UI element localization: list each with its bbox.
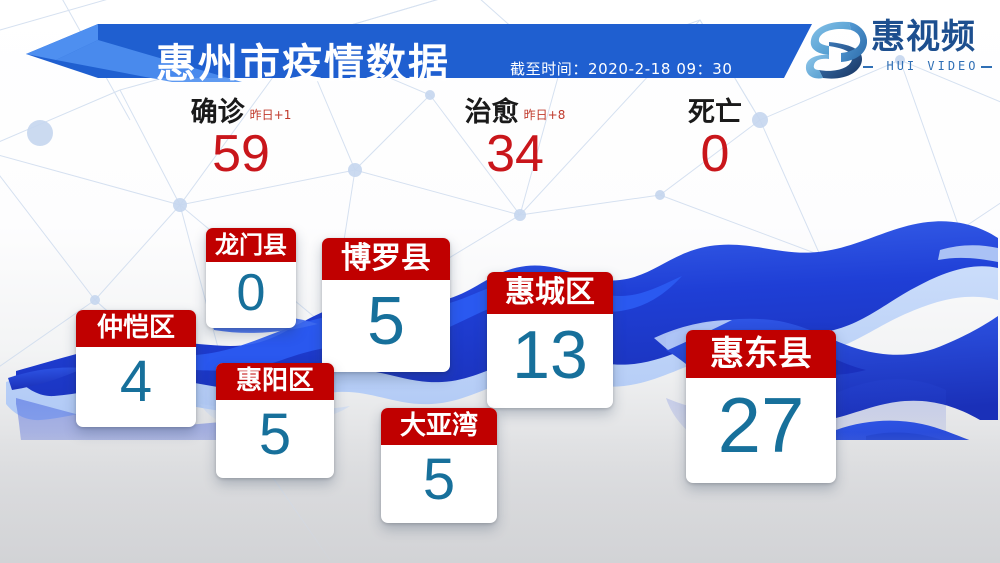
stat-cured-label-text: 治愈 <box>465 97 519 128</box>
stat-cured-value: 34 <box>400 126 630 182</box>
district-value: 27 <box>686 378 836 472</box>
stat-deaths-label: 死亡 <box>688 98 742 128</box>
district-card-boluo[interactable]: 博罗县 5 <box>322 238 450 372</box>
stat-deaths-value: 0 <box>620 126 810 182</box>
stat-cured-delta: 昨日+8 <box>524 109 566 121</box>
district-name: 惠阳区 <box>216 363 334 400</box>
district-card-longmen[interactable]: 龙门县 0 <box>206 228 296 328</box>
district-card-huicheng[interactable]: 惠城区 13 <box>487 272 613 408</box>
title-banner: 惠州市疫情数据 截至时间：2020-2-18 09：30 <box>22 20 812 82</box>
stat-cured: 治愈昨日+8 34 <box>400 98 630 182</box>
district-name: 龙门县 <box>206 228 296 262</box>
district-card-huiyang[interactable]: 惠阳区 5 <box>216 363 334 478</box>
district-value: 5 <box>216 400 334 470</box>
district-name: 仲恺区 <box>76 310 196 347</box>
page-title: 惠州市疫情数据 <box>156 44 486 84</box>
district-value: 4 <box>76 347 196 417</box>
logo-rule-right <box>981 66 992 68</box>
stat-confirmed-delta: 昨日+1 <box>250 109 292 121</box>
stat-confirmed: 确诊昨日+1 59 <box>126 98 356 182</box>
stat-confirmed-value: 59 <box>126 126 356 182</box>
district-value: 5 <box>381 445 497 515</box>
s-ribbon-icon <box>805 18 867 82</box>
summary-stats: 确诊昨日+1 59 治愈昨日+8 34 死亡 0 <box>0 98 1000 190</box>
district-value: 13 <box>487 314 613 396</box>
stat-confirmed-label-text: 确诊 <box>191 97 245 128</box>
logo-rule-left <box>863 66 873 68</box>
stat-confirmed-label: 确诊昨日+1 <box>191 98 292 128</box>
brand-logo: 惠视频 HUI VIDEO <box>805 18 990 84</box>
district-card-dayawan[interactable]: 大亚湾 5 <box>381 408 497 523</box>
district-name: 博罗县 <box>322 238 450 280</box>
district-value: 5 <box>322 280 450 362</box>
stat-deaths: 死亡 0 <box>620 98 810 182</box>
infographic-stage: 惠州市疫情数据 截至时间：2020-2-18 09：30 惠视频 H <box>0 0 1000 563</box>
stat-deaths-label-text: 死亡 <box>688 97 742 128</box>
district-name: 惠城区 <box>487 272 613 314</box>
logo-name-cn: 惠视频 <box>871 20 976 54</box>
timestamp: 截至时间：2020-2-18 09：30 <box>510 62 733 77</box>
district-card-huidong[interactable]: 惠东县 27 <box>686 330 836 483</box>
district-value: 0 <box>206 262 296 324</box>
stat-cured-label: 治愈昨日+8 <box>465 98 566 128</box>
district-name: 惠东县 <box>686 330 836 378</box>
district-card-zhongkai[interactable]: 仲恺区 4 <box>76 310 196 427</box>
district-name: 大亚湾 <box>381 408 497 445</box>
logo-name-en: HUI VIDEO <box>875 60 990 72</box>
